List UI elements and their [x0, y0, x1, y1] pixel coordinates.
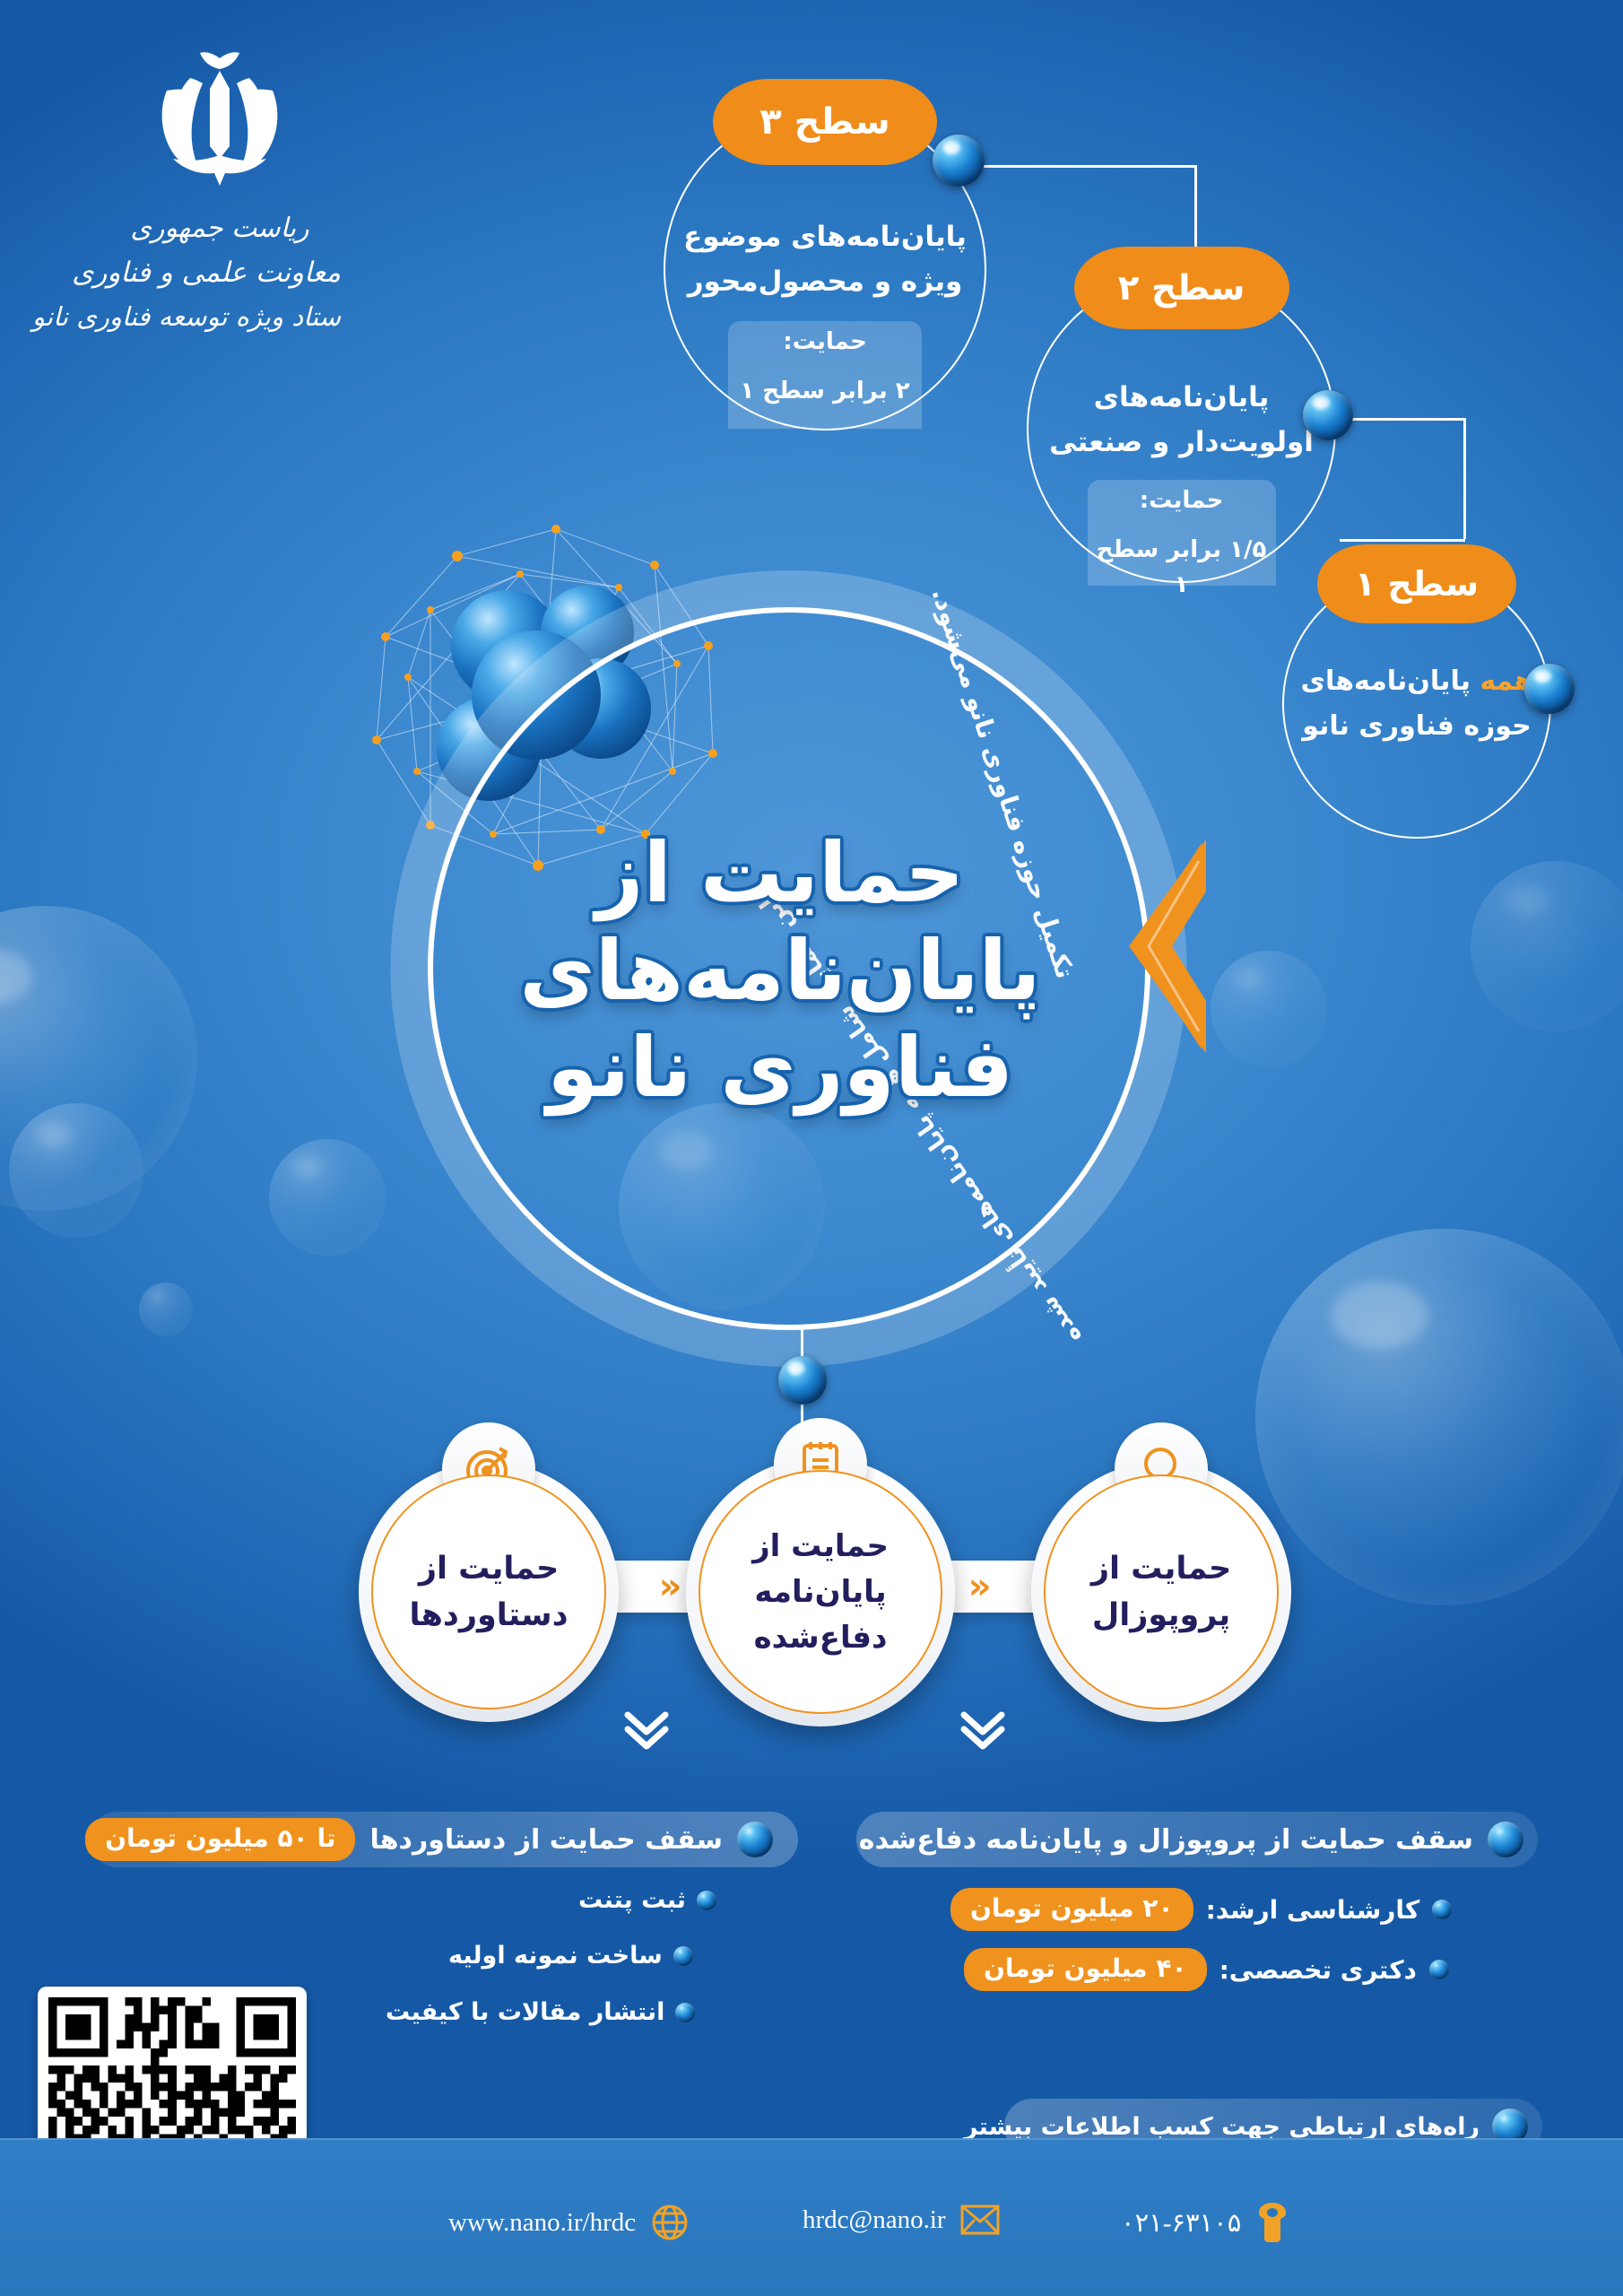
process-label-defended-thesis: حمایت از پایان‌نامه دفاع‌شده — [752, 1524, 889, 1661]
process-label-proposal: حمایت از پروپوزال — [1091, 1545, 1231, 1639]
bubble — [139, 1283, 193, 1336]
level-3-support-value: ۲ برابر سطح ۱ — [728, 374, 922, 409]
footer-email-text: hrdc@nano.ir — [803, 2205, 946, 2235]
support-row-phd-amount: ۴۰ میلیون تومان — [964, 1948, 1207, 1991]
envelope-icon — [960, 2205, 1000, 2235]
bubble — [1471, 861, 1623, 1031]
level-2-badge: سطح ۲ — [1074, 247, 1289, 329]
support-row-phd-label: دکتری تخصصی: — [1219, 1955, 1417, 1985]
bullet-icon — [1488, 1822, 1523, 1857]
process-card-proposal[interactable]: حمایت از پروپوزال — [1031, 1462, 1291, 1722]
bullet-icon — [737, 1822, 773, 1857]
process-card-defended-thesis[interactable]: حمایت از پایان‌نامه دفاع‌شده — [686, 1457, 955, 1726]
title-line-2: پایان‌نامه‌های — [466, 923, 1094, 1021]
level-3-line1: پایان‌نامه‌های موضوع — [665, 215, 985, 258]
footer-website[interactable]: www.nano.ir/hrdc — [448, 2203, 690, 2242]
chevron-double-down-icon — [955, 1704, 1011, 1754]
org-logo: ریاست جمهوری معاونت علمی و فناوری ستاد و… — [99, 40, 341, 332]
support-row-masters: کارشناسی ارشد: ۲۰ میلیون تومان — [950, 1888, 1452, 1931]
globe-icon — [650, 2203, 690, 2242]
support-proposal-header-text: سقف حمایت از پروپوزال و پایان‌نامه دفاع‌… — [859, 1824, 1473, 1856]
bubble — [0, 906, 197, 1211]
support-proposal-header: سقف حمایت از پروپوزال و پایان‌نامه دفاع‌… — [856, 1812, 1538, 1867]
level-2-node-marble — [1303, 390, 1353, 440]
footer-bar: www.nano.ir/hrdc hrdc@nano.ir ۰۲۱-۶۳۱۰۵ — [0, 2138, 1623, 2296]
process-label-achievements: حمایت از دستاوردها — [409, 1545, 568, 1639]
level-1-badge: سطح ۱ — [1317, 544, 1516, 623]
support-row-masters-label: کارشناسی ارشد: — [1206, 1895, 1420, 1925]
footer-website-text: www.nano.ir/hrdc — [448, 2208, 636, 2238]
bridge-chevron-icon: « — [968, 1569, 992, 1605]
process-card-achievements[interactable]: حمایت از دستاوردها — [359, 1462, 619, 1722]
bubble — [1211, 951, 1327, 1067]
footer-divider — [0, 2138, 1623, 2140]
bullet-icon — [1429, 1960, 1449, 1979]
level-3-node-marble — [933, 135, 985, 187]
iran-emblem-icon — [135, 40, 305, 202]
level-1-line1-rest: پایان‌نامه‌های — [1300, 665, 1480, 697]
footer-email[interactable]: hrdc@nano.ir — [803, 2205, 1000, 2235]
logo-line-2: معاونت علمی و فناوری — [99, 257, 341, 289]
page-title: حمایت از پایان‌نامه‌های فناوری نانو — [466, 825, 1094, 1118]
level-2-line1: پایان‌نامه‌های — [1028, 376, 1334, 419]
level-2-bubble: سطح ۲ پایان‌نامه‌های اولویت‌دار و صنعتی … — [1027, 274, 1336, 583]
bullet-icon — [1432, 1900, 1452, 1919]
chevron-double-down-icon — [619, 1704, 674, 1754]
bubble — [1255, 1229, 1623, 1605]
telephone-icon — [1255, 2201, 1289, 2244]
ring-chevron-badge — [1116, 834, 1215, 1062]
level-1-line1: همه پایان‌نامه‌های — [1284, 661, 1549, 703]
support-achievements-header-text: سقف حمایت از دستاوردها — [369, 1824, 723, 1856]
logo-line-1: ریاست جمهوری — [99, 213, 341, 244]
level-3-badge: سطح ۳ — [713, 79, 937, 165]
level-3-support-label: حمایت: — [728, 325, 922, 360]
level-2-line2: اولویت‌دار و صنعتی — [1028, 421, 1334, 464]
level-2-support-label: حمایت: — [1088, 483, 1276, 518]
footer-phone[interactable]: ۰۲۱-۶۳۱۰۵ — [1121, 2201, 1289, 2244]
level-3-line2: ویژه و محصول‌محور — [665, 260, 985, 303]
bridge-chevron-icon: « — [659, 1569, 682, 1605]
footer-header-text: راه‌های ارتباطی جهت کسب اطلاعات بیشتر — [964, 2113, 1480, 2141]
level-1-node-marble — [1524, 664, 1575, 714]
achievement-item-prototype: ساخت نمونه اولیه — [448, 1942, 693, 1970]
logo-line-3: ستاد ویژه توسعه فناوری نانو — [99, 301, 341, 332]
support-achievements-header: سقف حمایت از دستاوردها تا ۵۰ میلیون توما… — [90, 1812, 798, 1867]
bullet-icon — [697, 1891, 716, 1910]
bullet-icon — [673, 1946, 693, 1966]
footer-phone-text: ۰۲۱-۶۳۱۰۵ — [1121, 2207, 1241, 2239]
support-row-phd: دکتری تخصصی: ۴۰ میلیون تومان — [964, 1948, 1449, 1991]
achievement-item-patent: ثبت پتنت — [578, 1886, 716, 1914]
title-line-3: فناوری نانو — [466, 1020, 1094, 1118]
bubble — [9, 1103, 143, 1238]
bullet-icon — [675, 2003, 695, 2022]
bubble — [269, 1139, 386, 1256]
achievement-item-papers: انتشار مقالات با کیفیت — [386, 1998, 695, 2026]
level-1-bubble: سطح ۱ همه پایان‌نامه‌های حوزه فناوری نان… — [1282, 570, 1551, 839]
support-achievements-amount: تا ۵۰ میلیون تومان — [85, 1818, 355, 1861]
support-row-masters-amount: ۲۰ میلیون تومان — [950, 1888, 1193, 1931]
level-3-support: حمایت: ۲ برابر سطح ۱ — [728, 321, 922, 429]
level-1-line2: حوزه فناوری نانو — [1284, 706, 1549, 748]
title-line-1: حمایت از — [466, 825, 1094, 923]
ring-stem-marble — [778, 1356, 827, 1405]
